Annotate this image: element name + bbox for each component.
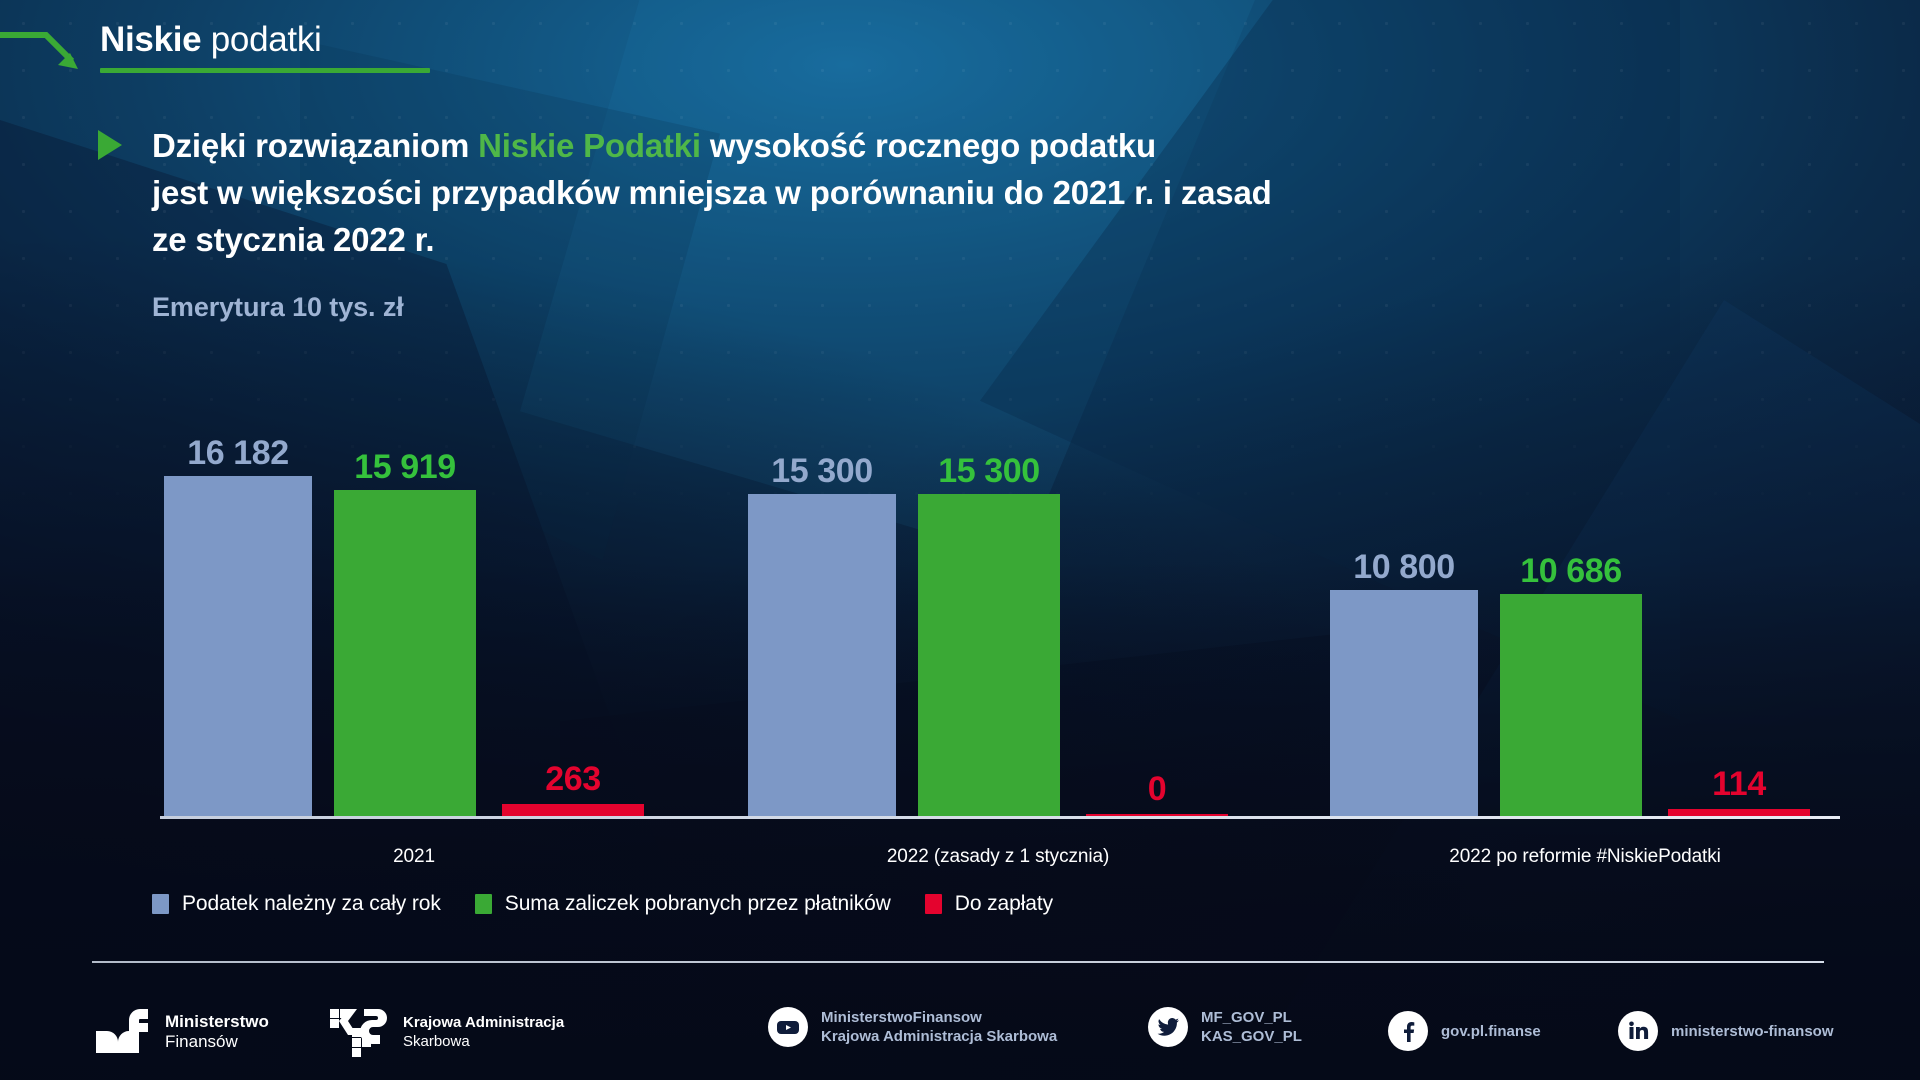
bar-fill [1330,590,1478,816]
youtube-icon[interactable] [768,1007,808,1047]
kas-line-1: Krajowa Administracja [403,1013,564,1032]
bar-fill [164,476,312,816]
linkedin-handle: ministerstwo-finansow [1671,1022,1834,1041]
footer: Ministerstwo Finansów Krajowa Administra… [0,985,1920,1080]
youtube-line-1: MinisterstwoFinansow [821,1008,1057,1027]
kas-line-2: Skarbowa [403,1032,564,1051]
bar-label: 15 300 [748,452,896,491]
bar-2021-podatek-nalezny: 16 182 [164,476,312,816]
chart-group-2022-styczen: 15 300 15 300 0 2022 (zasady z 1 styczni… [748,346,1248,816]
legend-swatch-icon [475,894,492,914]
legend-label: Podatek należny za cały rok [182,892,441,916]
legend-swatch-icon [152,894,169,914]
headline-part-2: wysokość rocznego podatku [701,127,1156,164]
bar-fill [334,490,476,816]
brand-underline [100,68,430,73]
chart-category-label: 2022 po reformie #NiskiePodatki [1330,846,1840,868]
bar-fill [502,804,644,816]
mf-logo-text: Ministerstwo Finansów [165,1012,269,1052]
social-youtube[interactable]: MinisterstwoFinansow Krajowa Administrac… [768,1007,1057,1047]
linkedin-icon[interactable] [1618,1011,1658,1051]
twitter-line-1: MF_GOV_PL [1201,1008,1302,1027]
twitter-icon[interactable] [1148,1007,1188,1047]
bar-label: 15 919 [334,448,476,487]
bar-2022r-suma-zaliczek: 10 686 [1500,594,1642,816]
social-facebook[interactable]: gov.pl.finanse [1388,1011,1541,1051]
bar-2021-suma-zaliczek: 15 919 [334,490,476,816]
social-twitter[interactable]: MF_GOV_PL KAS_GOV_PL [1148,1007,1302,1047]
twitter-line-2: KAS_GOV_PL [1201,1027,1302,1046]
facebook-icon[interactable] [1388,1011,1428,1051]
twitter-handles: MF_GOV_PL KAS_GOV_PL [1201,1008,1302,1046]
bar-label: 263 [502,760,644,799]
bar-label: 10 686 [1500,552,1642,591]
kas-logo-icon [330,1007,390,1057]
headline-highlight: Niskie Podatki [478,127,701,164]
legend-item-suma-zaliczek: Suma zaliczek pobranych przez płatników [475,892,891,916]
chart-category-label: 2022 (zasady z 1 stycznia) [748,846,1248,868]
chart-group-2022-reforma: 10 800 10 686 114 2022 po reformie #Nisk… [1330,346,1840,816]
mf-line-2: Finansów [165,1032,269,1052]
bar-2021-do-zaplaty: 263 [502,804,644,816]
bar-label: 10 800 [1330,548,1478,587]
kas-logo-text: Krajowa Administracja Skarbowa [403,1013,564,1051]
linkedin-line-1: ministerstwo-finansow [1671,1022,1834,1041]
brand-title-bold: Niskie [100,20,201,59]
legend-item-do-zaplaty: Do zapłaty [925,892,1053,916]
logo-krajowa-administracja-skarbowa: Krajowa Administracja Skarbowa [330,1007,564,1057]
bar-2022r-podatek-nalezny: 10 800 [1330,590,1478,816]
headline-line-2: jest w większości przypadków mniejsza w … [152,174,1272,211]
bar-2022r-do-zaplaty: 114 [1668,809,1810,816]
bar-label: 16 182 [164,434,312,473]
brand-lockup: Niskie podatki [78,14,498,80]
legend-swatch-icon [925,894,942,914]
bar-chart: 16 182 15 919 263 2021 15 300 15 300 0 2… [0,330,1920,820]
bar-fill [1668,809,1810,816]
legend-label: Suma zaliczek pobranych przez płatników [505,892,891,916]
bar-fill [748,494,896,816]
bar-label: 114 [1668,765,1810,804]
chart-legend: Podatek należny za cały rok Suma zalicze… [152,892,1053,916]
chart-group-2021: 16 182 15 919 263 2021 [164,346,664,816]
headline-part-1: Dzięki rozwiązaniom [152,127,478,164]
bar-2022s-podatek-nalezny: 15 300 [748,494,896,816]
bar-2022s-suma-zaliczek: 15 300 [918,494,1060,816]
facebook-line-1: gov.pl.finanse [1441,1022,1541,1041]
mf-line-1: Ministerstwo [165,1012,269,1032]
green-arrow-icon [0,31,86,73]
legend-item-podatek-nalezny: Podatek należny za cały rok [152,892,441,916]
mf-logo-icon [96,1009,152,1055]
play-triangle-icon [98,130,122,160]
facebook-handle: gov.pl.finanse [1441,1022,1541,1041]
page-title: Dzięki rozwiązaniom Niskie Podatki wysok… [152,122,1832,263]
bar-fill [918,494,1060,816]
brand-title-light: podatki [211,20,322,59]
headline-line-3: ze stycznia 2022 r. [152,221,434,258]
youtube-line-2: Krajowa Administracja Skarbowa [821,1027,1057,1046]
logo-ministerstwo-finansow: Ministerstwo Finansów [96,1009,269,1055]
youtube-handles: MinisterstwoFinansow Krajowa Administrac… [821,1008,1057,1046]
chart-category-label: 2021 [164,846,664,868]
footer-divider [92,961,1824,963]
chart-subtitle: Emerytura 10 tys. zł [152,292,404,323]
social-linkedin[interactable]: ministerstwo-finansow [1618,1011,1834,1051]
bar-label: 15 300 [918,452,1060,491]
chart-baseline-axis [160,816,1840,819]
bar-fill [1500,594,1642,816]
legend-label: Do zapłaty [955,892,1053,916]
bar-label: 0 [1086,770,1228,809]
brand-title: Niskie podatki [100,20,322,60]
